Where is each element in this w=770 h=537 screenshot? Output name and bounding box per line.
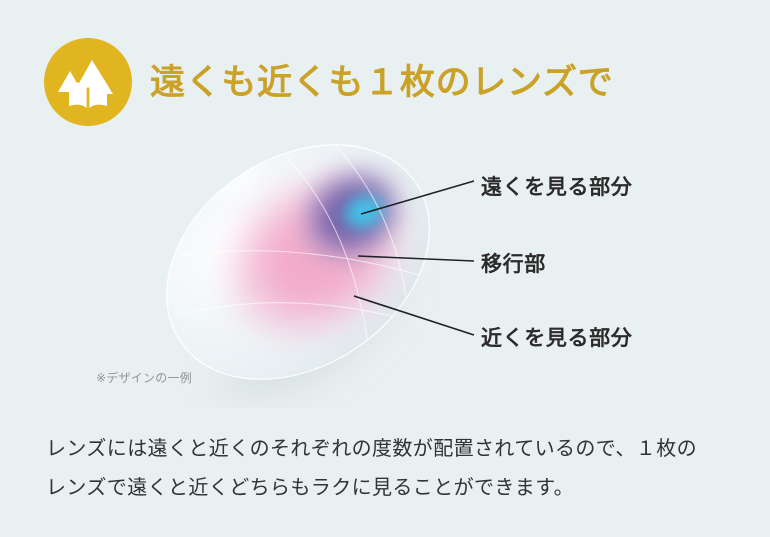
description-line-1: レンズには遠くと近くのそれぞれの度数が配置されているので、１枚の [46,430,736,469]
callout-label-distance: 遠くを見る部分 [481,171,632,201]
multifocal-contact-lens-diagram [140,128,460,408]
callout-label-transition: 移行部 [481,248,546,278]
callout-label-near: 近くを見る部分 [481,322,632,352]
infographic-page: 遠くも近くも１枚のレンズで [0,0,770,537]
page-title: 遠くも近くも１枚のレンズで [150,65,613,100]
description-text: レンズには遠くと近くのそれぞれの度数が配置されているので、１枚の レンズで遠くと… [46,430,736,508]
lens-design-note: ※デザインの一例 [96,369,192,386]
mountain-and-open-book-icon [44,38,132,126]
header: 遠くも近くも１枚のレンズで [44,38,613,126]
description-line-2: レンズで遠くと近くどちらもラクに見ることができます。 [46,469,736,508]
